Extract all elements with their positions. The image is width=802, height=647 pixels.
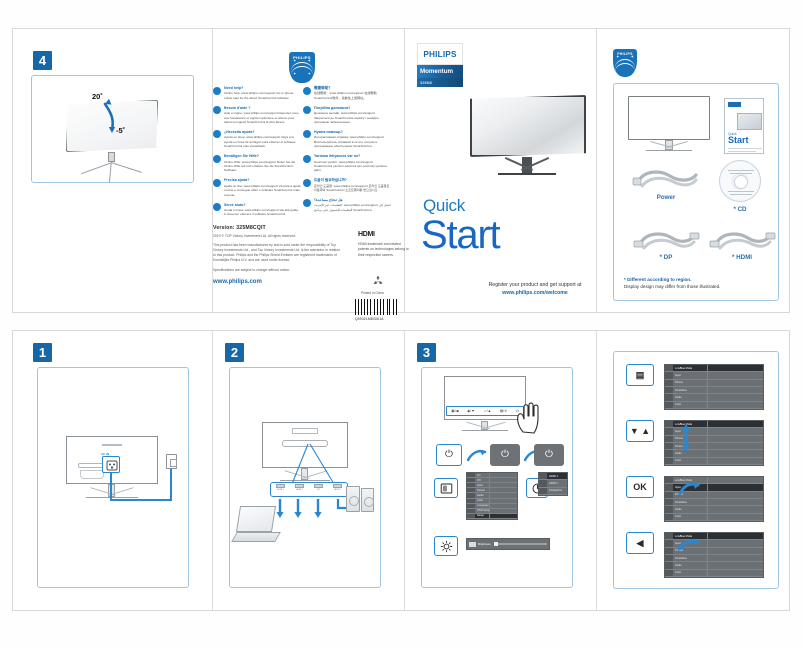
osd-button-glyph[interactable]: ▣/◀	[451, 409, 458, 413]
osd-row-label: HDMI 2	[547, 482, 567, 485]
osd-row-label: Off	[475, 479, 517, 482]
help-body: Online help: www.philips.com/support Go …	[224, 91, 301, 100]
osd-brightness-slider[interactable]: Brightness	[466, 538, 550, 550]
osd-button-glyph[interactable]: ◉/▼	[467, 409, 475, 413]
osd-row-label: Input	[673, 430, 763, 433]
cd-disc-icon	[719, 160, 761, 202]
updown-key[interactable]: ▼ ▲	[626, 420, 654, 442]
speaker-left	[346, 486, 360, 512]
bullet-icon	[303, 155, 311, 163]
help-title: Need help?	[224, 86, 301, 90]
printed-in-china-label: Printed in China	[361, 291, 384, 295]
panel-step-3: ▣/◀◉/▼☼/▲▤/✕⏻ ⏻ ⏻ ⏻	[421, 367, 573, 588]
osd-row-icon	[467, 504, 475, 508]
osd-menu-row[interactable]: Input	[665, 372, 763, 379]
recycle-icon	[371, 274, 385, 287]
osd-menu-row[interactable]: Picture	[665, 548, 763, 555]
speaker-right	[361, 488, 374, 512]
osd-row-label: Audio	[673, 452, 763, 455]
connection-arrows	[230, 368, 382, 589]
osd-row-label: Audio	[475, 494, 517, 497]
osd-row-label: On	[475, 474, 517, 477]
tilt-up-label: 20˚	[92, 92, 103, 101]
osd-row-icon	[665, 533, 673, 539]
help-title: ¿Necesita ayuda?	[224, 130, 301, 134]
osd-menu-row[interactable]: SmartSize	[665, 555, 763, 562]
osd-row-icon	[665, 443, 673, 449]
cover-monitor-illustration	[468, 91, 588, 203]
quick-start-guide-page: 4 20˚ -5˚ PHILIPS ✦ ✦ ✦ ✦ Nee	[0, 0, 802, 647]
help-body: Допомога онлайн: www.philips.com/support…	[314, 111, 391, 124]
help-title: Precisa ajuda?	[224, 178, 301, 182]
osd-row-label: LowBlue Mode	[673, 479, 763, 482]
tilt-down-label: -5˚	[116, 126, 125, 135]
philips-website-link[interactable]: www.philips.com	[213, 279, 343, 285]
brightness-icon	[440, 540, 453, 553]
osd-row-icon	[665, 458, 673, 464]
panel-osd-navigation: ▤LowBlue ModeInputPictureSmartSizeAudioC…	[613, 351, 779, 589]
osd-menu-row[interactable]: Audio	[665, 506, 763, 513]
spec-note: Specifications are subject to change wit…	[213, 268, 343, 273]
osd-input-menu: HDMI 1HDMI 2DisplayPort	[538, 472, 568, 496]
osd-row-icon	[665, 372, 673, 378]
top-sheet: 4 20˚ -5˚ PHILIPS ✦ ✦ ✦ ✦ Nee	[12, 28, 790, 313]
bullet-icon	[303, 87, 311, 95]
ok-key[interactable]: OK	[626, 476, 654, 498]
help-item: Besoin d'aide ?Aide en ligne: www.philip…	[213, 106, 301, 125]
osd-row-icon	[665, 428, 673, 434]
osd-menu-row[interactable]: SmartSize	[665, 387, 763, 394]
osd-row-icon	[467, 473, 475, 477]
back-key[interactable]: ◀	[626, 532, 654, 554]
brightness-slider-track[interactable]	[494, 543, 547, 545]
osd-row-icon	[665, 562, 673, 568]
help-item: 도움이 필요하십니까?온라인 도움말: www.philips.com/supp…	[303, 178, 391, 192]
accessory-monitor	[628, 96, 710, 158]
osd-menu-row[interactable]: Color	[665, 514, 763, 521]
help-item: Потрібна допомога?Допомога онлайн: www.p…	[303, 106, 391, 125]
help-item: Need help?Online help: www.philips.com/s…	[213, 86, 301, 100]
osd-row-label: Color	[673, 571, 763, 574]
osd-row-label: SmartSize	[673, 445, 763, 448]
osd-row-label: Color	[673, 403, 763, 406]
osd-button-glyph[interactable]: ☼/▲	[483, 409, 491, 413]
register-link[interactable]: www.philips.com/welcome	[502, 290, 568, 296]
osd-row-label: Audio	[673, 564, 763, 567]
osd-menu-row[interactable]: SmartSize	[665, 499, 763, 506]
osd-menu-row[interactable]: Picture	[665, 380, 763, 387]
osd-picture-menu: OnOffInputPictureAudioColorLanguageOSD S…	[466, 472, 518, 520]
accessory-quickstart-booklet: Quick Start	[724, 98, 764, 154]
register-text: Register your product and get support at…	[465, 281, 605, 298]
osd-row-label: Picture	[673, 493, 763, 496]
osd-row-icon	[665, 499, 673, 505]
bullet-icon	[303, 130, 311, 138]
osd-menu-row[interactable]: SmartSize	[665, 443, 763, 450]
legal-block: Version: 325M8CQIT 2019 © TOP Victory In…	[213, 225, 343, 285]
sequence-arrow-1	[467, 448, 487, 464]
power-key-off[interactable]: ⏻	[436, 444, 462, 466]
osd-menu-row[interactable]: DisplayPort	[539, 488, 567, 495]
osd-row-icon	[467, 488, 475, 492]
help-title: 需要帮助？	[314, 86, 391, 90]
bullet-icon	[213, 203, 221, 211]
osd-row-icon	[665, 570, 673, 576]
power-wire-horizontal	[110, 499, 172, 501]
osd-row-label: Audio	[673, 396, 763, 399]
step-badge-2: 2	[225, 343, 244, 362]
laptop-lid	[236, 506, 276, 532]
help-item: 需要帮助？在线帮助：www.philips.com/support 在线帮助Sm…	[303, 86, 391, 100]
panel-step-4: 20˚ -5˚	[31, 75, 194, 183]
cover-start-word: Start	[421, 215, 499, 255]
step-badge-4: 4	[33, 51, 52, 70]
bottom-sheet: 1 AC IN	[12, 330, 790, 611]
osd-row-label: Audio	[673, 508, 763, 511]
osd-row-icon	[467, 514, 475, 518]
osd-row-icon	[467, 483, 475, 487]
osd-row-icon	[665, 514, 673, 520]
panel-step-2: HDMI 1HDMI 2DPAUDIO	[229, 367, 381, 588]
help-body: Online-Hilfe: www.philips.com/support Ru…	[224, 160, 301, 173]
osd-menu-preview: LowBlue ModeInputPictureSmartSizeAudioCo…	[664, 532, 764, 578]
help-body: التعليمات عبر الإنترنت: www.philips.com/…	[314, 203, 391, 212]
accessory-footnote-line2: Display design may differ from those ill…	[624, 283, 720, 290]
osd-row-label: Picture	[673, 381, 763, 384]
osd-row-icon	[467, 509, 475, 513]
osd-menu-preview: LowBlue ModeInputPictureSmartSizeAudioCo…	[664, 420, 764, 466]
osd-row-icon	[539, 480, 547, 486]
help-body: Интерактивная справка: www.philips.com/s…	[314, 135, 391, 148]
help-item: Benötigen Sie Hilfe?Online-Hilfe: www.ph…	[213, 154, 301, 173]
osd-row-icon	[665, 484, 673, 490]
osd-row-icon	[665, 436, 673, 442]
osd-menu-row[interactable]: Picture	[665, 492, 763, 499]
brightness-slider-label: Brightness	[478, 543, 491, 546]
osd-row-icon	[665, 380, 673, 386]
osd-menu-preview: LowBlue ModeInputPictureSmartSizeAudioCo…	[664, 476, 764, 522]
osd-row-label: Picture	[673, 549, 763, 552]
osd-menu-row[interactable]: LowBlue Mode	[665, 533, 763, 540]
power-glyph-1: ⏻	[445, 450, 453, 460]
osd-row-icon	[665, 421, 673, 427]
osd-row-icon	[539, 473, 547, 479]
model-band: 325M8	[417, 78, 463, 87]
register-line-1: Register your product and get support at	[489, 282, 582, 288]
brightness-slider-thumb[interactable]	[494, 542, 498, 547]
accessory-label-hdmi: * HDMI	[710, 254, 774, 261]
power-glyph-2: ⏻	[501, 450, 509, 460]
accessory-footnote-line1: * Different according to region.	[624, 276, 720, 283]
osd-row-label: SmartSize	[673, 501, 763, 504]
osd-menu-row[interactable]: LowBlue Mode	[665, 477, 763, 484]
osd-menu-preview: LowBlue ModeInputPictureSmartSizeAudioCo…	[664, 364, 764, 410]
help-item: Нужна помощь?Интерактивная справка: www.…	[303, 130, 391, 149]
osd-row-label: DisplayPort	[547, 489, 567, 492]
wall-outlet-icon	[166, 454, 177, 469]
osd-menu-row[interactable]: Input	[665, 484, 763, 491]
bullet-icon	[213, 87, 221, 95]
power-key-on-1[interactable]: ⏻	[490, 444, 520, 466]
osd-row-label: Input	[475, 484, 517, 487]
bullet-icon	[213, 179, 221, 187]
help-body: Guida in linea: www.philips.com/support …	[224, 208, 301, 217]
osd-button-strip[interactable]: ▣/◀◉/▼☼/▲▤/✕⏻	[446, 406, 524, 416]
help-body: Çevrimiçi yardım: www.philips.com/suppor…	[314, 160, 391, 173]
ac-in-label: AC IN	[101, 452, 109, 456]
accessory-label-power: Power	[634, 194, 698, 201]
momentum-band: Momentum	[417, 65, 463, 78]
osd-row-label: LowBlue Mode	[673, 367, 763, 370]
osd-menu-row[interactable]: HDMI 2	[539, 480, 567, 487]
help-body: Ayuda en línea: www.philips.com/support …	[224, 135, 301, 148]
osd-row-icon	[665, 555, 673, 561]
osd-row-icon	[665, 492, 673, 498]
osd-row-icon	[665, 548, 673, 554]
picture-icon	[440, 482, 453, 495]
tilt-arrow-icon	[32, 76, 195, 184]
osd-row-label: Color	[673, 515, 763, 518]
osd-row-label: LowBlue Mode	[673, 535, 763, 538]
panel-accessories: Quick Start Power * CD	[613, 83, 779, 301]
osd-row-label: Picture	[475, 489, 517, 492]
help-title: Besoin d'aide ?	[224, 106, 301, 110]
hdmi-cable-icon	[706, 224, 778, 254]
help-title: هل تحتاج مساعدة؟	[314, 198, 391, 202]
osd-row-label: SmartSize	[673, 389, 763, 392]
philips-shield-icon-accessories: PHILIPS ✦ ✦	[613, 49, 637, 77]
help-title: Yardıma ihtiyacınız var mı?	[314, 154, 391, 158]
panel-step-1: AC IN	[37, 367, 189, 588]
osd-row-label: Setup	[475, 514, 517, 517]
help-item: Yardıma ihtiyacınız var mı?Çevrimiçi yar…	[303, 154, 391, 173]
osd-row-label: Color	[475, 499, 517, 502]
osd-row-icon	[467, 499, 475, 503]
help-body: Aide en ligne: www.philips.com/support R…	[224, 111, 301, 124]
bullet-icon	[213, 130, 221, 138]
hand-cursor-icon	[514, 402, 544, 436]
model-label: 325M8	[420, 81, 432, 85]
manufacturer-paragraph: This product has been manufactured by an…	[213, 243, 343, 264]
osd-row-icon	[665, 402, 673, 408]
help-title: Нужна помощь?	[314, 130, 391, 134]
step-badge-3: 3	[417, 343, 436, 362]
osd-menu-row[interactable]: Audio	[665, 394, 763, 401]
osd-menu-row[interactable]: Audio	[665, 450, 763, 457]
accessory-footnote: * Different according to region. Display…	[624, 276, 720, 291]
osd-button-glyph[interactable]: ▤/✕	[500, 409, 507, 413]
osd-row-label: OSD Setup	[475, 509, 517, 512]
brightness-slider-icon	[469, 542, 476, 547]
osd-row-icon	[467, 478, 475, 482]
step-badge-1: 1	[33, 343, 52, 362]
osd-row-icon	[467, 493, 475, 497]
osd-row-label: HDMI 1	[547, 475, 567, 478]
help-body: 在线帮助：www.philips.com/support 在线帮助SmartCo…	[314, 91, 391, 100]
osd-row-label: Language	[475, 504, 517, 507]
booklet-start-label: Start	[728, 136, 749, 145]
osd-row-icon	[665, 387, 673, 393]
osd-menu-row[interactable]: HDMI 1	[539, 473, 567, 480]
osd-row-label: Color	[673, 459, 763, 462]
osd-row-icon	[665, 477, 673, 483]
bullet-icon	[303, 199, 311, 207]
osd-row-icon	[665, 450, 673, 456]
hdmi-logo: HDMI	[358, 231, 375, 238]
copyright-line: 2019 © TOP Victory Investment Ltd. All r…	[213, 234, 343, 239]
help-item: Precisa ajuda?Ajuda on-line: www.philips…	[213, 178, 301, 197]
ac-in-highlight	[102, 456, 120, 473]
hdmi-trademark-note: HDMI trademark and related patents on te…	[358, 242, 410, 258]
osd-menu-row[interactable]: Picture	[665, 436, 763, 443]
power-wire-vertical	[110, 473, 112, 501]
osd-row-label: Input	[673, 374, 763, 377]
help-body: 온라인 도움말: www.philips.com/support 온라인 도움말…	[314, 184, 391, 193]
help-title: Serve aiuto?	[224, 203, 301, 207]
accessory-label-dp: * DP	[634, 254, 698, 261]
power-glyph-3: ⏻	[545, 450, 553, 460]
picture-menu-key[interactable]	[434, 478, 458, 498]
bullet-icon	[303, 179, 311, 187]
version-line: Version: 325M8CQIT	[213, 225, 343, 231]
osd-row-label: LowBlue Mode	[673, 423, 763, 426]
help-title: Потрібна допомога?	[314, 106, 391, 110]
philips-logo: PHILIPS	[417, 43, 463, 65]
barcode	[355, 299, 399, 315]
osd-menu-row[interactable]: Color	[665, 458, 763, 465]
laptop-base	[231, 532, 281, 542]
barcode-number: Q4932LM8I3I61A	[355, 317, 384, 321]
help-item: هل تحتاج مساعدة؟التعليمات عبر الإنترنت: …	[303, 198, 391, 212]
displayport-cable-icon	[630, 224, 702, 254]
osd-row-icon	[665, 540, 673, 546]
philips-wordmark: PHILIPS	[423, 50, 456, 59]
help-title: Benötigen Sie Hilfe?	[224, 154, 301, 158]
help-title: 도움이 필요하십니까?	[314, 178, 391, 182]
osd-menu-row[interactable]: Setup	[467, 514, 517, 519]
osd-row-label: Input	[673, 542, 763, 545]
osd-row-label: SmartSize	[673, 557, 763, 560]
osd-row-icon	[665, 365, 673, 371]
bullet-icon	[213, 155, 221, 163]
accessory-label-cd: * CD	[708, 206, 772, 213]
power-key-on-2[interactable]: ⏻	[534, 444, 564, 466]
osd-row-icon	[665, 506, 673, 512]
philips-shield-icon: PHILIPS ✦ ✦ ✦ ✦	[289, 52, 315, 83]
osd-menu-row[interactable]: Audio	[665, 562, 763, 569]
help-body: Ajuda on-line: www.philips.com/support V…	[224, 184, 301, 197]
osd-row-label: Picture	[673, 437, 763, 440]
brightness-key[interactable]	[434, 536, 458, 556]
help-column-right: 需要帮助？在线帮助：www.philips.com/support 在线帮助Sm…	[303, 86, 391, 218]
osd-row-icon	[539, 488, 547, 494]
help-item: Serve aiuto?Guida in linea: www.philips.…	[213, 203, 301, 217]
osd-menu-row[interactable]: Color	[665, 570, 763, 577]
osd-row-icon	[665, 394, 673, 400]
osd-row-label: Input	[673, 486, 763, 489]
menu-key[interactable]: ▤	[626, 364, 654, 386]
power-wire-up	[170, 468, 172, 501]
osd-menu-row[interactable]: Input	[665, 540, 763, 547]
bullet-icon	[213, 106, 221, 114]
bullet-icon	[303, 106, 311, 114]
help-item: ¿Necesita ayuda?Ayuda en línea: www.phil…	[213, 130, 301, 149]
osd-menu-row[interactable]: Input	[665, 428, 763, 435]
momentum-label: Momentum	[420, 68, 453, 75]
power-cable-icon	[630, 164, 702, 194]
help-column-left: Need help?Online help: www.philips.com/s…	[213, 86, 301, 222]
osd-menu-row[interactable]: LowBlue Mode	[665, 365, 763, 372]
osd-menu-row[interactable]: LowBlue Mode	[665, 421, 763, 428]
osd-menu-row[interactable]: Color	[665, 402, 763, 409]
